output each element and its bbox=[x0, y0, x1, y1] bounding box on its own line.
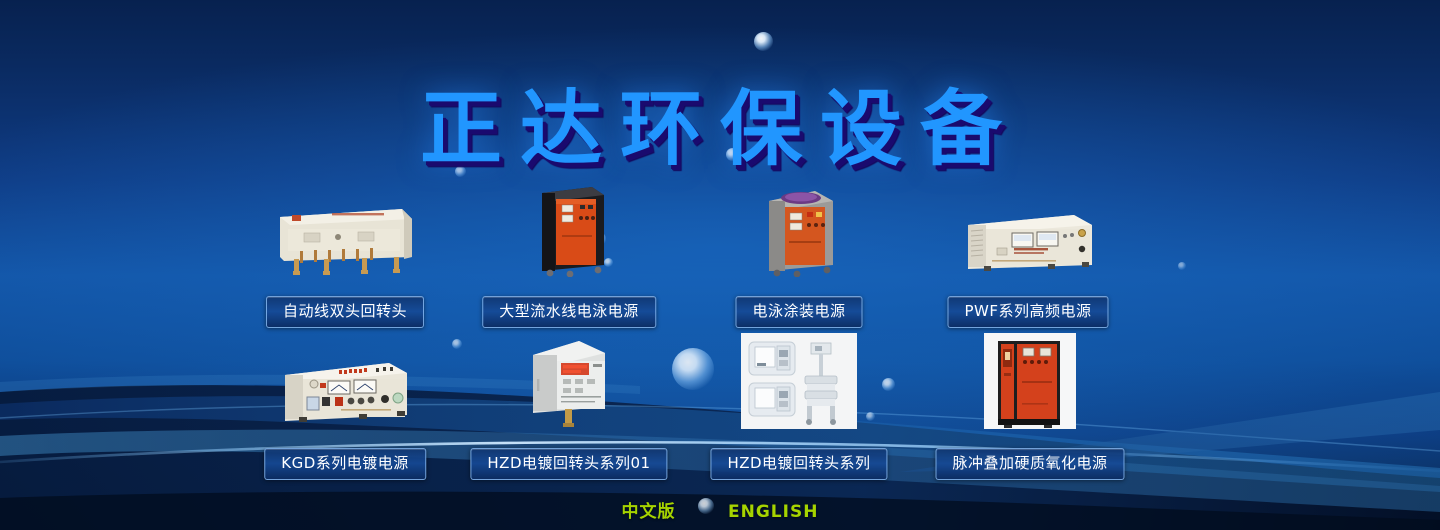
product-card[interactable]: HZD电镀回转头系列 bbox=[706, 340, 892, 480]
product-card[interactable]: PWF系列高频电源 bbox=[930, 200, 1126, 328]
page-title: 正达环保设备 bbox=[0, 62, 1440, 181]
product-image-red-tall-cabinet-power-supply bbox=[984, 333, 1076, 434]
product-image-white-photo-card-three-units bbox=[741, 333, 857, 434]
language-link-chinese[interactable]: 中文版 bbox=[622, 502, 676, 522]
product-label[interactable]: PWF系列高频电源 bbox=[947, 296, 1108, 328]
bokeh-dot bbox=[452, 339, 462, 349]
product-label[interactable]: 自动线双头回转头 bbox=[266, 296, 424, 328]
product-label[interactable]: HZD电镀回转头系列01 bbox=[470, 448, 667, 480]
bokeh-dot bbox=[754, 32, 773, 51]
bokeh-dot bbox=[1178, 262, 1186, 270]
product-image-orange-black-cabinet-power-supply bbox=[526, 179, 612, 282]
product-card[interactable]: 电泳涂装电源 bbox=[712, 190, 886, 328]
product-label[interactable]: KGD系列电镀电源 bbox=[264, 448, 426, 480]
product-image-cream-benchtop-rectifier-with-meters bbox=[956, 203, 1100, 282]
product-card[interactable]: HZD电镀回转头系列01 bbox=[478, 344, 660, 480]
product-label[interactable]: 电泳涂装电源 bbox=[735, 296, 862, 328]
product-label[interactable]: 脉冲叠加硬质氧化电源 bbox=[935, 448, 1124, 480]
product-card[interactable]: 自动线双头回转头 bbox=[240, 196, 450, 328]
product-image-white-rotary-head-control-unit bbox=[523, 333, 615, 434]
product-label[interactable]: HZD电镀回转头系列 bbox=[710, 448, 887, 480]
product-card[interactable]: KGD系列电镀电源 bbox=[240, 348, 450, 480]
product-card[interactable]: 大型流水线电泳电源 bbox=[482, 190, 656, 328]
language-links: 中文版 ENGLISH bbox=[0, 497, 1440, 522]
language-link-english[interactable]: ENGLISH bbox=[728, 502, 818, 522]
product-label[interactable]: 大型流水线电泳电源 bbox=[482, 296, 656, 328]
product-image-beige-horizontal-rotary-head-machine bbox=[270, 199, 420, 282]
product-card[interactable]: 脉冲叠加硬质氧化电源 bbox=[944, 340, 1116, 480]
page-background: 正达环保设备 bbox=[0, 0, 1440, 530]
product-image-grey-orange-cabinet-power-supply bbox=[757, 179, 841, 282]
product-image-cream-benchtop-plating-power-supply bbox=[273, 349, 417, 434]
